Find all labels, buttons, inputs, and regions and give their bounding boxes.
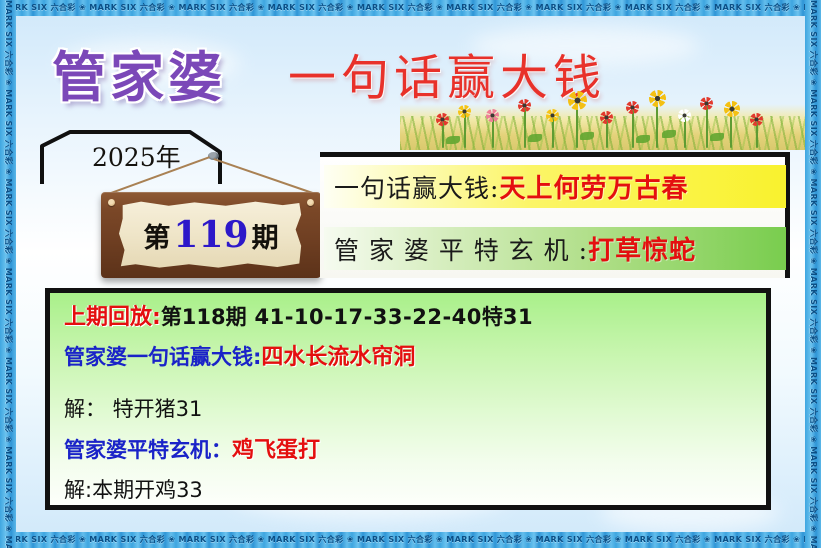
- flower-white: [678, 109, 691, 122]
- flower-yellow: [568, 91, 587, 110]
- border-text: MARK SIX 六合彩 ❀ MARK SIX 六合彩 ❀ MARK SIX 六…: [0, 532, 821, 548]
- current-explanation: 解:本期开鸡33: [64, 478, 203, 502]
- site-logo: 管家婆: [52, 33, 226, 112]
- wooden-board: 第 119 期: [101, 192, 321, 278]
- flower-red: [626, 101, 639, 114]
- prediction-row-phrase: 一句话赢大钱: 天上何劳万古春: [324, 165, 786, 208]
- leaf: [710, 133, 724, 141]
- replay-special-label: 特: [482, 305, 503, 329]
- flower-stem: [632, 110, 634, 148]
- flower-stem: [684, 118, 686, 148]
- replay-issue: 第118期: [161, 305, 247, 329]
- previous-formula-label: 管家婆平特玄机：: [64, 438, 232, 462]
- leaf: [662, 130, 676, 138]
- previous-explanation-row: 解： 特开猪31: [64, 399, 766, 420]
- flower-stem: [706, 106, 708, 148]
- flower-red: [700, 97, 713, 110]
- poster-page: MARK SIX 六合彩 ❀ MARK SIX 六合彩 ❀ MARK SIX 六…: [0, 0, 821, 548]
- leaf: [446, 136, 460, 144]
- leaf: [636, 135, 650, 143]
- flower-stem: [492, 118, 494, 148]
- flower-stem: [730, 114, 732, 148]
- prediction-label: 一句话赢大钱:: [334, 169, 499, 205]
- previous-formula-row: 管家婆平特玄机：鸡飞蛋打: [64, 440, 766, 462]
- previous-phrase-value: 四水长流水帘洞: [261, 345, 415, 370]
- rope-left: [104, 156, 210, 196]
- prediction-panel: 一句话赢大钱: 天上何劳万古春 管 家 婆 平 特 玄 机 : 打草惊蛇: [320, 152, 790, 278]
- flower-yellow: [649, 90, 666, 107]
- previous-results-box: 上期回放:第118期 41-10-17-33-22-40特31 管家婆一句话赢大…: [45, 288, 771, 510]
- replay-tag: 上期回放:: [64, 305, 161, 330]
- flower-red: [600, 111, 613, 124]
- leaf: [580, 132, 594, 140]
- flower-stem: [606, 120, 608, 148]
- flower-meadow-illustration: [400, 88, 805, 150]
- previous-phrase-label: 管家婆一句话赢大钱:: [64, 345, 261, 369]
- issue-plaque: 第 119 期: [96, 152, 326, 282]
- border-strip-right: MARK SIX 六合彩 ❀ MARK SIX 六合彩 ❀ MARK SIX 六…: [805, 0, 821, 548]
- prediction-value: 天上何劳万古春: [499, 168, 688, 205]
- flower-yellow: [458, 105, 471, 118]
- border-text: MARK SIX 六合彩 ❀ MARK SIX 六合彩 ❀ MARK SIX 六…: [0, 0, 821, 16]
- prediction-value: 打草惊蛇: [588, 230, 696, 267]
- replay-row: 上期回放:第118期 41-10-17-33-22-40特31: [64, 307, 766, 329]
- border-strip-left: MARK SIX 六合彩 ❀ MARK SIX 六合彩 ❀ MARK SIX 六…: [0, 0, 16, 548]
- border-strip-top: MARK SIX 六合彩 ❀ MARK SIX 六合彩 ❀ MARK SIX 六…: [0, 0, 821, 16]
- issue-suffix: 期: [252, 216, 279, 255]
- flower-pink: [486, 109, 499, 122]
- previous-explanation: 解： 特开猪31: [64, 397, 202, 421]
- previous-phrase-row: 管家婆一句话赢大钱:四水长流水帘洞: [64, 347, 766, 369]
- previous-formula-value: 鸡飞蛋打: [232, 438, 320, 463]
- flower-stem: [524, 108, 526, 148]
- issue-number: 119: [170, 214, 251, 256]
- flower-stem: [656, 102, 658, 148]
- leaf: [528, 134, 542, 142]
- flower-yellow: [724, 101, 740, 117]
- flower-stem: [464, 114, 466, 148]
- current-explanation-row: 解:本期开鸡33: [64, 480, 766, 501]
- replay-numbers: 41-10-17-33-22-40: [254, 305, 481, 329]
- border-text: MARK SIX 六合彩 ❀ MARK SIX 六合彩 ❀ MARK SIX 六…: [0, 0, 16, 548]
- rope-right: [213, 158, 314, 194]
- border-strip-bottom: MARK SIX 六合彩 ❀ MARK SIX 六合彩 ❀ MARK SIX 六…: [0, 532, 821, 548]
- flower-red: [518, 99, 531, 112]
- flower-red: [750, 113, 763, 126]
- border-text: MARK SIX 六合彩 ❀ MARK SIX 六合彩 ❀ MARK SIX 六…: [805, 0, 821, 548]
- replay-special-number: 31: [503, 305, 533, 329]
- flower-stem: [576, 104, 578, 148]
- flower-stem: [552, 118, 554, 148]
- prediction-label: 管 家 婆 平 特 玄 机 :: [334, 231, 588, 267]
- prediction-row-formula: 管 家 婆 平 特 玄 机 : 打草惊蛇: [324, 227, 786, 270]
- issue-number-text: 第 119 期: [119, 201, 303, 269]
- flower-red: [436, 113, 449, 126]
- flower-yellow: [546, 109, 559, 122]
- issue-prefix: 第: [143, 216, 170, 255]
